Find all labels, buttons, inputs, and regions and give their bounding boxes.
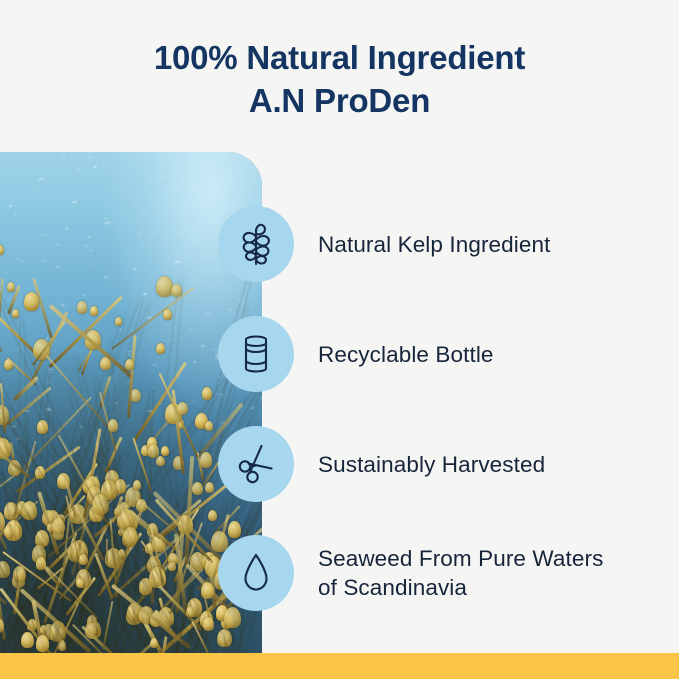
water-drop-icon — [218, 535, 294, 611]
feature-item-recyclable-bottle: Recyclable Bottle — [218, 316, 494, 392]
feature-item-seaweed-pure-waters: Seaweed From Pure Waters of Scandinavia — [218, 535, 603, 611]
page-title-line-2: A.N ProDen — [0, 79, 679, 122]
page-title-line-1: 100% Natural Ingredient — [0, 36, 679, 79]
feature-label: Sustainably Harvested — [318, 450, 545, 479]
page-title: 100% Natural Ingredient A.N ProDen — [0, 36, 679, 122]
feature-item-sustainably-harvested: Sustainably Harvested — [218, 426, 545, 502]
feature-label: Natural Kelp Ingredient — [318, 230, 550, 259]
product-feature-infographic: 100% Natural Ingredient A.N ProDen — [0, 0, 679, 679]
bottom-accent-bar — [0, 653, 679, 679]
feature-item-natural-kelp-ingredient: Natural Kelp Ingredient — [218, 206, 550, 282]
kelp-leaf-icon — [218, 206, 294, 282]
bottle-icon — [218, 316, 294, 392]
scissors-icon — [218, 426, 294, 502]
feature-label: Seaweed From Pure Waters of Scandinavia — [318, 544, 603, 602]
feature-label: Recyclable Bottle — [318, 340, 494, 369]
